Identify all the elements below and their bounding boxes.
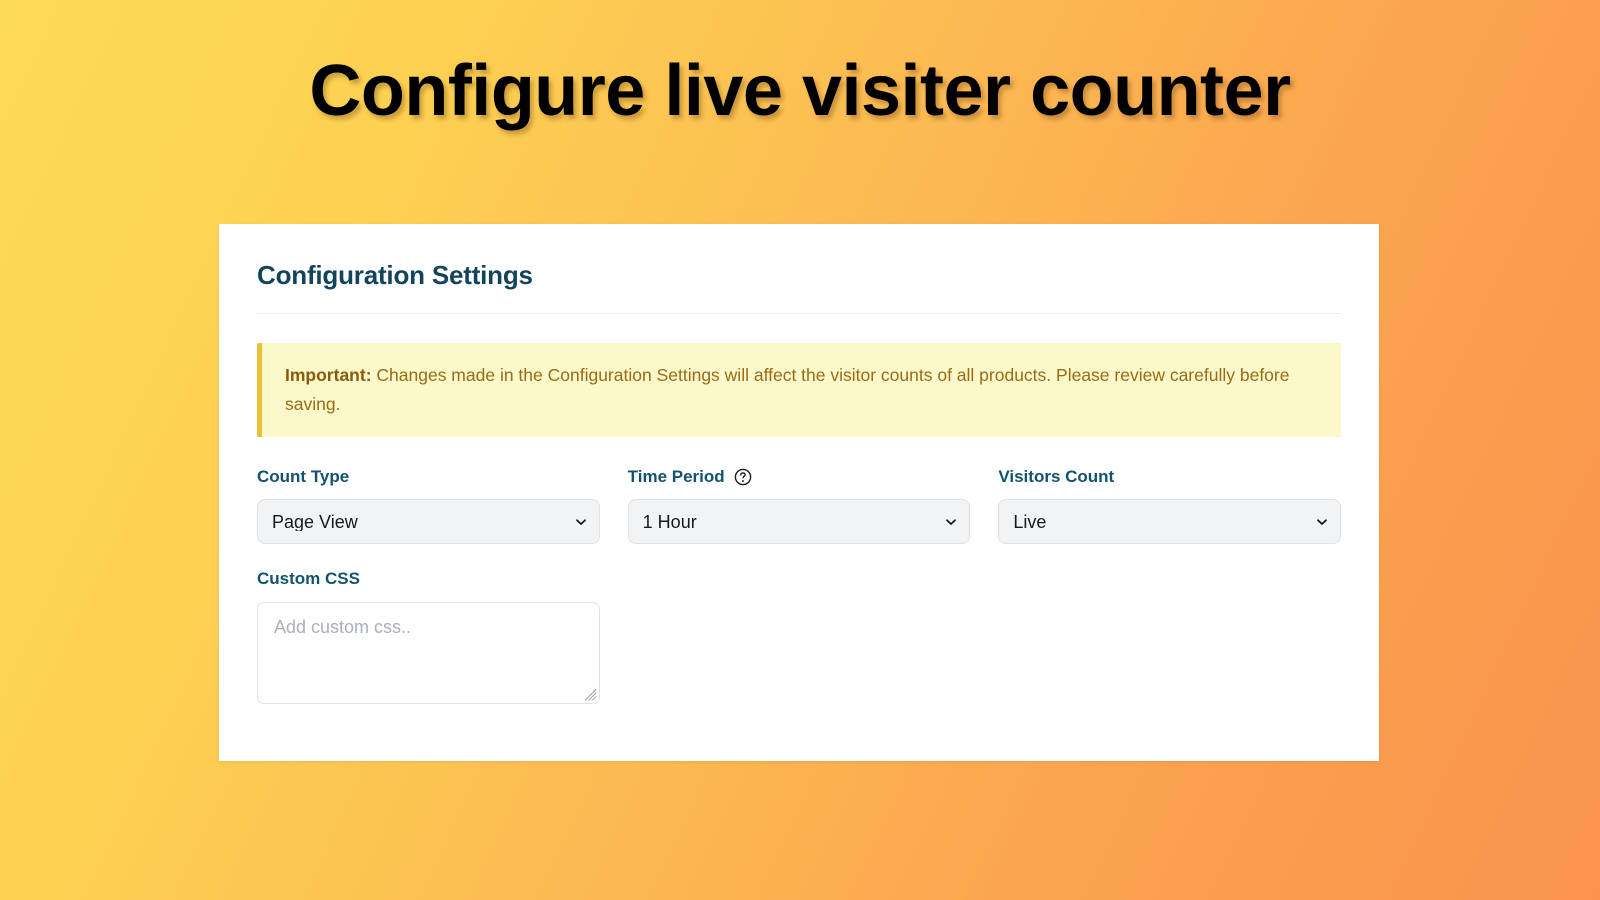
custom-css-spacer-a [628, 569, 971, 703]
time-period-label-row: Time Period [628, 467, 971, 487]
custom-css-spacer-b [998, 569, 1341, 703]
card-title-divider [257, 313, 1341, 314]
custom-css-row: Custom CSS Add custom css.. [257, 569, 1341, 703]
time-period-label: Time Period [628, 467, 725, 487]
page-title: Configure live visiter counter [309, 52, 1290, 131]
important-alert: Important: Changes made in the Configura… [257, 343, 1341, 437]
alert-message: Changes made in the Configuration Settin… [285, 365, 1289, 413]
chevron-down-icon [945, 516, 957, 528]
time-period-select[interactable]: 1 Hour [628, 499, 971, 544]
visitors-count-label-row: Visitors Count [998, 467, 1341, 487]
chevron-down-icon [1316, 516, 1328, 528]
count-type-label: Count Type [257, 467, 349, 487]
field-time-period: Time Period 1 Hour [628, 467, 971, 544]
settings-fields-row: Count Type Page View Time Period [257, 467, 1341, 544]
field-visitors-count: Visitors Count Live [998, 467, 1341, 544]
time-period-selected-value: 1 Hour [643, 513, 697, 531]
page-title-container: Configure live visiter counter [0, 0, 1600, 131]
alert-strong-label: Important: [285, 365, 372, 385]
custom-css-placeholder: Add custom css.. [274, 617, 411, 637]
configuration-settings-card: Configuration Settings Important: Change… [219, 224, 1379, 761]
chevron-down-icon [575, 516, 587, 528]
card-title: Configuration Settings [257, 260, 1341, 291]
custom-css-label-row: Custom CSS [257, 569, 600, 589]
custom-css-label: Custom CSS [257, 569, 360, 589]
visitors-count-selected-value: Live [1013, 513, 1046, 531]
count-type-selected-value: Page View [272, 513, 358, 531]
count-type-label-row: Count Type [257, 467, 600, 487]
visitors-count-label: Visitors Count [998, 467, 1114, 487]
custom-css-textarea[interactable]: Add custom css.. [257, 602, 600, 704]
card-body: Configuration Settings Important: Change… [219, 224, 1379, 704]
count-type-select[interactable]: Page View [257, 499, 600, 544]
resize-grip-icon[interactable] [584, 688, 597, 701]
field-custom-css: Custom CSS Add custom css.. [257, 569, 600, 703]
alert-text: Important: Changes made in the Configura… [285, 361, 1319, 418]
question-mark-circle-icon[interactable] [734, 468, 752, 486]
field-count-type: Count Type Page View [257, 467, 600, 544]
visitors-count-select[interactable]: Live [998, 499, 1341, 544]
